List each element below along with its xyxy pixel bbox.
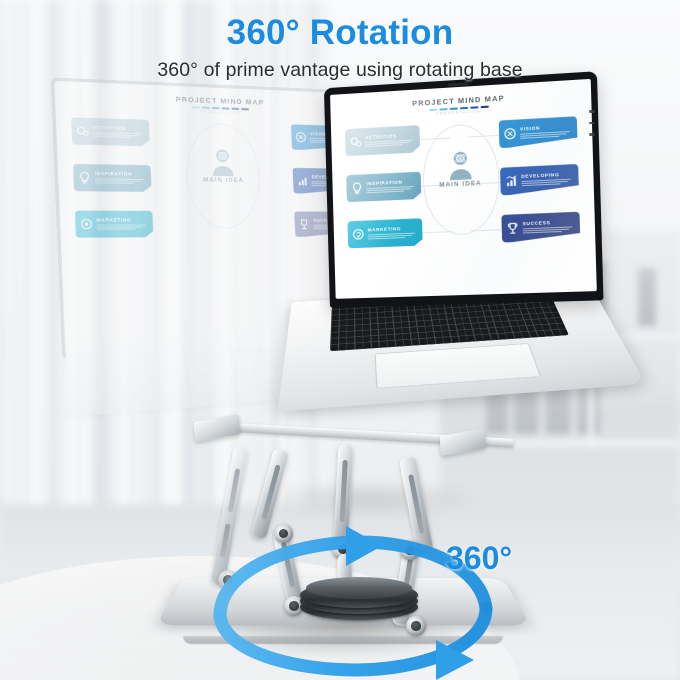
- center-node: MAIN IDEA: [424, 147, 497, 189]
- ghost-center-node: MAIN IDEA: [188, 146, 258, 184]
- trophy-icon: [506, 221, 520, 235]
- mindmap-node: DEVELOPING: [500, 164, 579, 196]
- page-title: 360° Rotation: [0, 12, 680, 53]
- product-marketing-image: 360° Rotation 360° of prime vantage usin…: [0, 0, 680, 680]
- ghost-node: INSPIRATION: [73, 164, 152, 192]
- laptop-ports: [589, 110, 596, 166]
- gears-icon: [76, 124, 90, 138]
- head-brain-icon: [446, 149, 474, 181]
- lightbulb-icon: [77, 171, 91, 184]
- ghost-node-label: INSPIRATION: [94, 171, 147, 177]
- binder: [638, 268, 656, 326]
- lightbulb-icon: [350, 181, 363, 195]
- page-subtitle: 360° of prime vantage using rotating bas…: [0, 59, 680, 82]
- mindmap-body: MAIN IDEA ACTIVITIES: [337, 112, 590, 266]
- rotation-badge: 360°: [446, 540, 512, 577]
- ghost-node: ACTIVITIES: [71, 117, 150, 146]
- slide-mindmap: PROJECT MIND MAP PRESENTATION: [330, 79, 597, 299]
- ghost-node-label: ACTIVITIES: [93, 125, 146, 132]
- mindmap-node: VISION: [499, 116, 578, 148]
- compass-icon: [503, 127, 517, 141]
- gears-icon: [349, 135, 362, 149]
- head-brain-icon: [210, 147, 237, 177]
- mindmap-node: INSPIRATION: [346, 172, 421, 203]
- bar-chart-icon: [504, 174, 518, 188]
- mindmap-node: MARKETING: [347, 218, 422, 248]
- stand-support-lip: [440, 428, 487, 456]
- laptop-lid: PROJECT MIND MAP PRESENTATION: [324, 71, 604, 308]
- head-idea-icon: [352, 228, 365, 242]
- mindmap-node: ACTIVITIES: [345, 125, 420, 156]
- ghost-node: MARKETING: [75, 210, 154, 237]
- ghost-center-label: MAIN IDEA: [189, 178, 258, 185]
- laptop-trackpad: [375, 343, 542, 389]
- laptop-screen: PROJECT MIND MAP PRESENTATION: [330, 79, 597, 299]
- ghost-node-label: MARKETING: [96, 218, 148, 223]
- mindmap-node: SUCCESS: [501, 212, 580, 243]
- heading-block: 360° Rotation 360° of prime vantage usin…: [0, 12, 680, 82]
- head-idea-icon: [79, 218, 93, 231]
